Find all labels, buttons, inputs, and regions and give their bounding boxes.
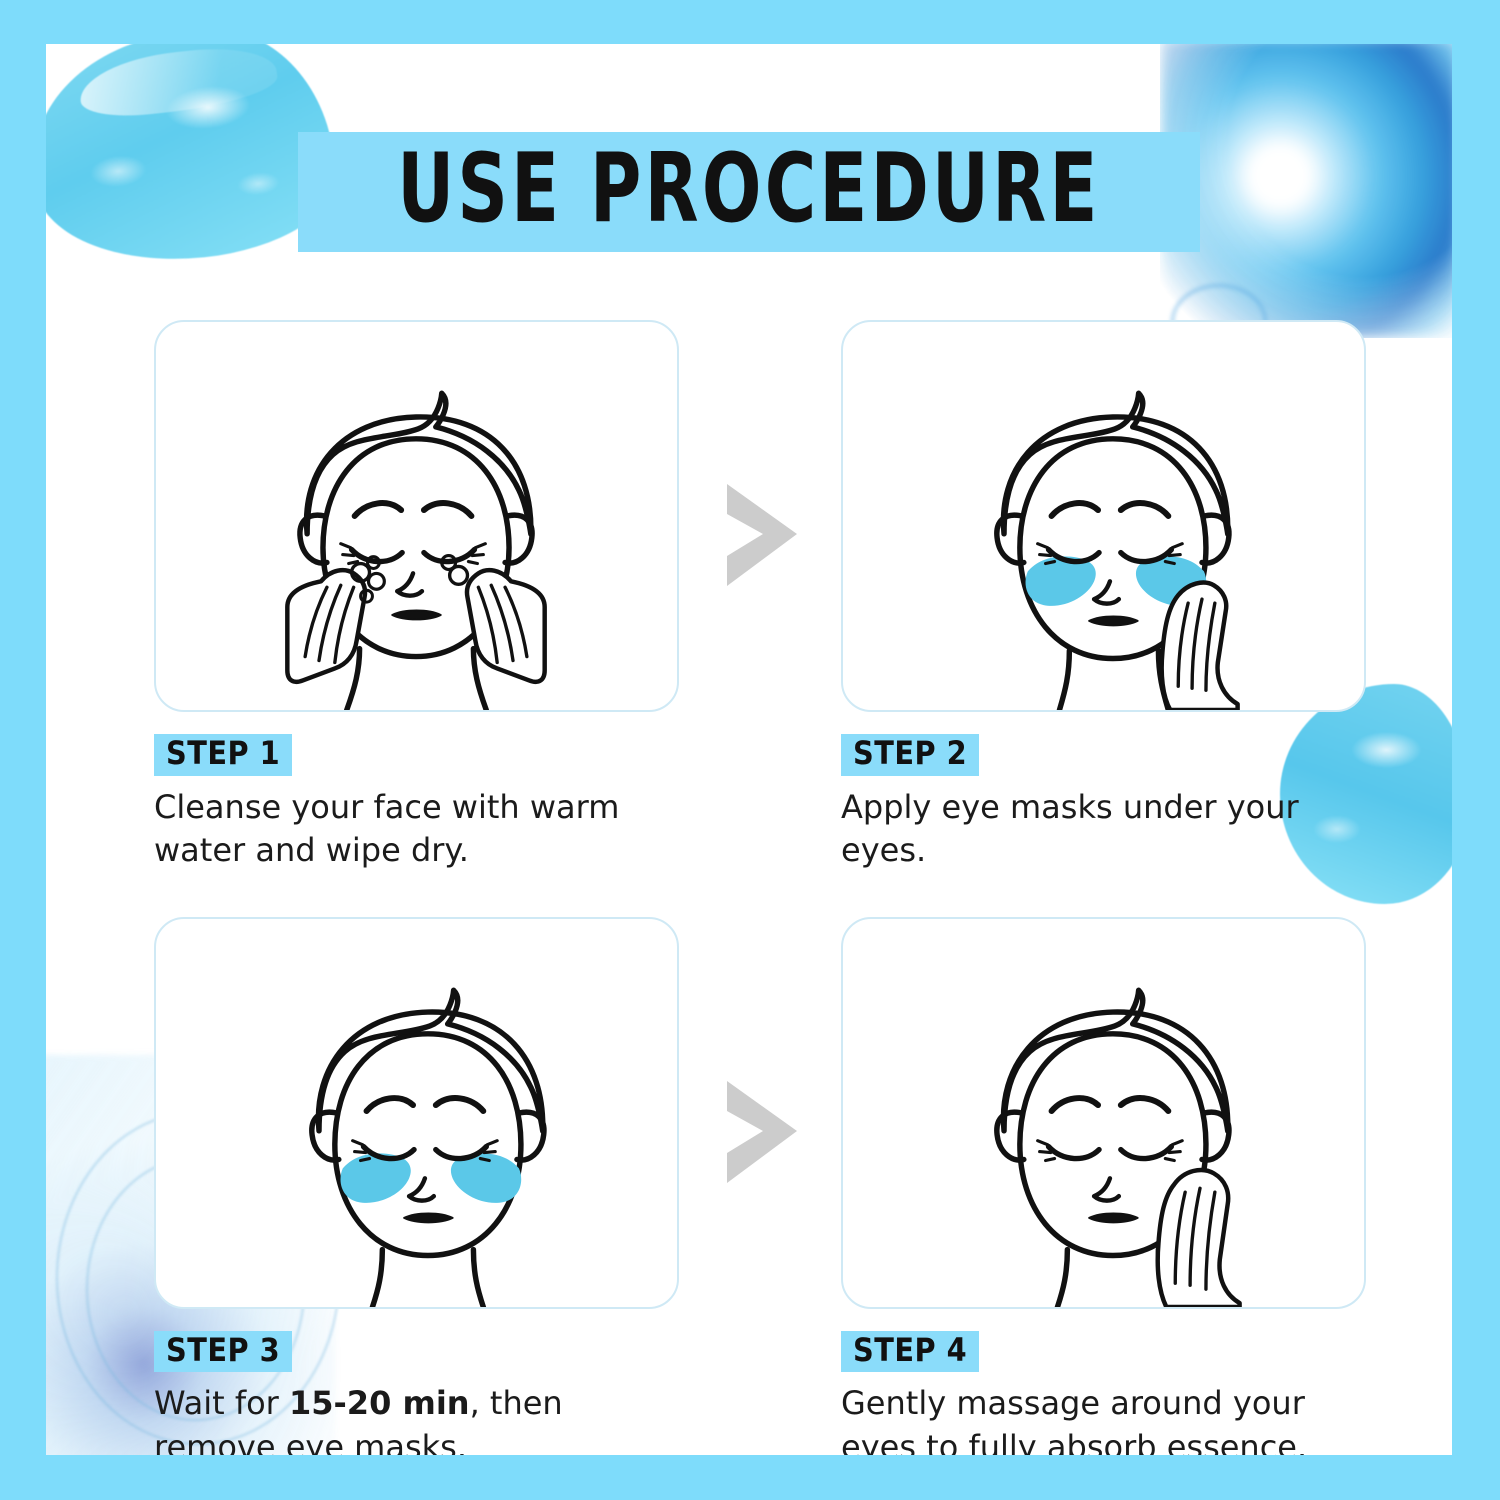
use-procedure-infographic: USE PROCEDURE	[0, 0, 1500, 1500]
step-3-label: STEP 3	[154, 1331, 292, 1373]
step-1-illustration-card	[154, 320, 679, 712]
page-title-wrapper: USE PROCEDURE	[46, 132, 1452, 252]
step-2-cell: STEP 2 Apply eye masks under your eyes.	[841, 320, 1368, 873]
step-2-illustration-card	[841, 320, 1366, 712]
chevron-right-icon	[719, 480, 803, 590]
step-2-label: STEP 2	[841, 734, 979, 776]
step-4-label: STEP 4	[841, 1331, 979, 1373]
face-washing-with-bubbles-icon	[156, 322, 677, 710]
step-3-cell: STEP 3 Wait for 15-20 min, then remove e…	[154, 917, 681, 1455]
step-arrow-2-cell	[681, 917, 841, 1455]
chevron-right-icon	[719, 1077, 803, 1187]
face-massaging-cheek-icon	[843, 919, 1364, 1307]
step-3-bold-duration: 15-20 min	[289, 1384, 470, 1422]
step-1-label: STEP 1	[154, 734, 292, 776]
step-1-cell: STEP 1 Cleanse your face with warm water…	[154, 320, 681, 873]
step-3-text-before: Wait for	[154, 1384, 289, 1422]
step-1-description: Cleanse your face with warm water and wi…	[154, 786, 674, 873]
step-4-cell: STEP 4 Gently massage around your eyes t…	[841, 917, 1368, 1455]
content-canvas: USE PROCEDURE	[46, 44, 1452, 1455]
face-with-eye-patches-applying-icon	[843, 322, 1364, 710]
steps-grid: STEP 1 Cleanse your face with warm water…	[154, 320, 1404, 1455]
step-3-illustration-card	[154, 917, 679, 1309]
step-3-description: Wait for 15-20 min, then remove eye mask…	[154, 1382, 674, 1455]
page-title-highlight: USE PROCEDURE	[298, 132, 1200, 252]
step-4-illustration-card	[841, 917, 1366, 1309]
face-with-eye-patches-resting-icon	[156, 919, 677, 1307]
page-title: USE PROCEDURE	[397, 144, 1100, 234]
step-2-description: Apply eye masks under your eyes.	[841, 786, 1361, 873]
step-arrow-1-cell	[681, 320, 841, 873]
step-4-description: Gently massage around your eyes to fully…	[841, 1382, 1361, 1455]
